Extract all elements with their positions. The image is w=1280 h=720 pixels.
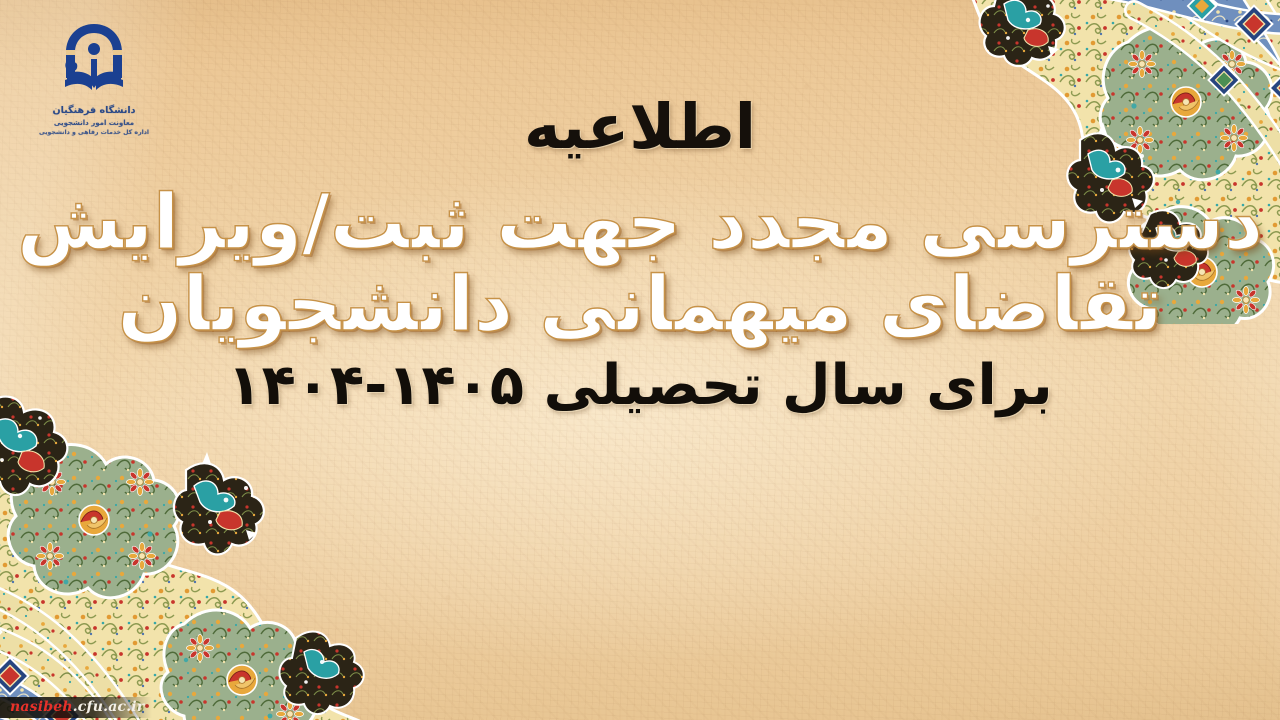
headline-block: اطلاعیه دسترسی مجدد جهت ثبت/ویرایش تقاضا… [0, 96, 1280, 414]
watermark-prefix: nasibeh [10, 699, 73, 715]
logo-deputy-line: معاونت امور دانشجویی [54, 119, 134, 127]
watermark-suffix: .cfu.ac.ir [73, 699, 145, 715]
academic-year-line: برای سال تحصیلی ۱۴۰۵-۱۴۰۴ [227, 358, 1052, 414]
headline-line-2: دسترسی مجدد جهت ثبت/ویرایش [17, 184, 1263, 260]
university-logo: دانشگاه فرهنگیان معاونت امور دانشجویی اد… [34, 22, 154, 136]
site-watermark: nasibeh.cfu.ac.ir [0, 697, 152, 718]
logo-university-name: دانشگاه فرهنگیان [52, 105, 135, 116]
announcement-poster: دانشگاه فرهنگیان معاونت امور دانشجویی اد… [0, 0, 1280, 720]
farhangian-university-emblem-icon [61, 22, 127, 102]
headline-line-3: تقاضای میهمانی دانشجویان [118, 266, 1163, 342]
logo-office-line: اداره کل خدمات رفاهی و دانشجویی [39, 129, 149, 136]
page-title: اطلاعیه [524, 96, 756, 158]
tazhib-ornament-bottom-left [0, 376, 400, 720]
